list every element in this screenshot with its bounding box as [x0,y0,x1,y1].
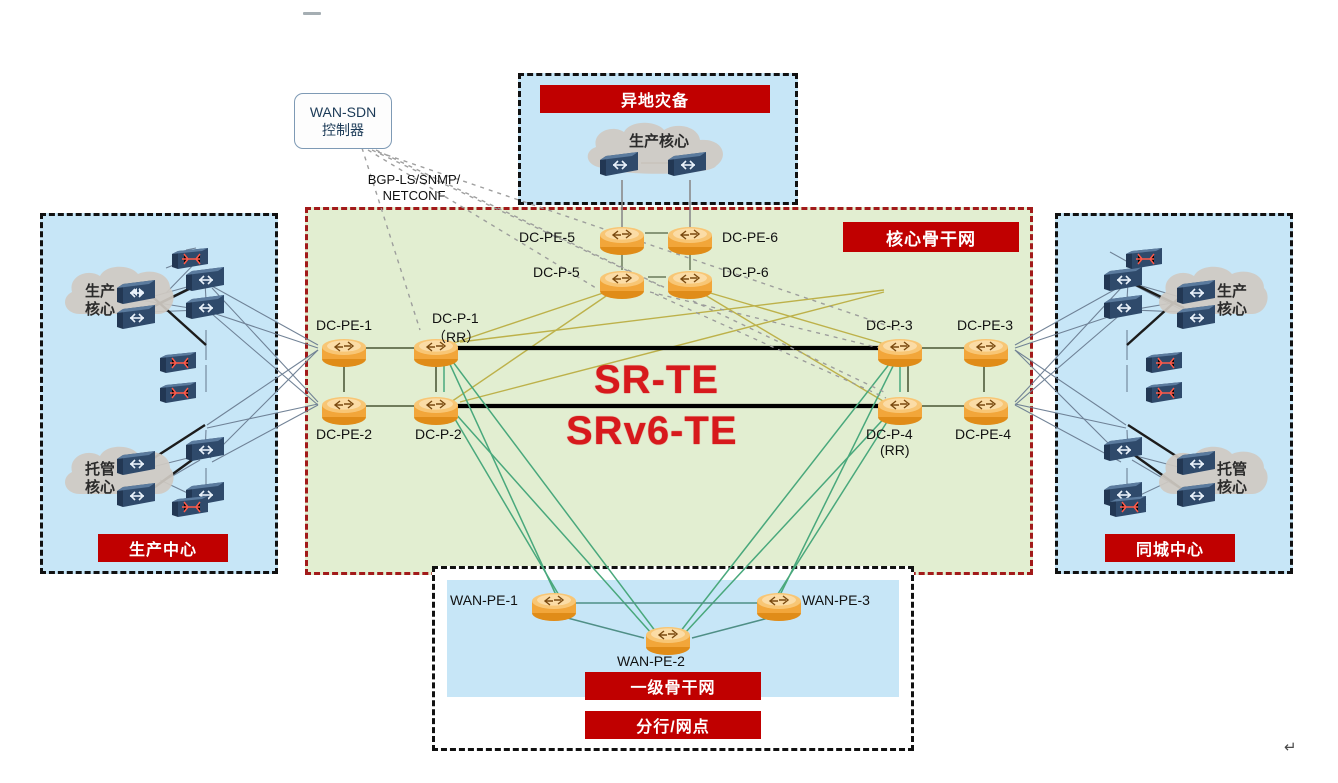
router-dc-p-2[interactable] [413,392,459,426]
label-dc-p-4-rr: (RR) [880,442,910,458]
label-dc-pe-4: DC-PE-4 [955,426,1011,442]
protocol-line1: BGP-LS/SNMP/ [344,172,484,188]
sdn-controller-name-line1: WAN-SDN [310,103,376,121]
switch-icon[interactable] [117,303,159,331]
label-dc-p-2: DC-P-2 [415,426,462,442]
router-dc-p-5[interactable] [599,266,645,300]
label-dc-pe-5: DC-PE-5 [519,229,575,245]
router-wan-pe-1[interactable] [531,588,577,622]
label-dc-pe-6: DC-PE-6 [722,229,778,245]
router-wan-pe-2[interactable] [645,622,691,656]
firewall-icon[interactable] [1110,494,1150,520]
label-dc-p-1: DC-P-1 [432,310,479,326]
router-dc-pe-5[interactable] [599,222,645,256]
label-sr-te: SR-TE [594,358,719,403]
router-dc-p-4[interactable] [877,392,923,426]
label-dc-p-3: DC-P-3 [866,317,913,333]
switch-icon[interactable] [1177,303,1219,331]
firewall-icon[interactable] [1146,350,1186,376]
firewall-icon[interactable] [1126,246,1166,272]
banner-primary-backbone: 一级骨干网 [585,672,761,700]
wan-sdn-controller[interactable]: WAN-SDN 控制器 [294,93,392,149]
switch-icon[interactable] [1104,293,1146,321]
topology-diagram: WAN-SDN 控制器 BGP-LS/SNMP/ NETCONF 核心骨干网 异… [0,0,1338,783]
sdn-controller-name-line2: 控制器 [322,121,364,139]
switch-icon[interactable] [117,449,159,477]
label-dc-p-4: DC-P-4 [866,426,913,442]
switch-icon[interactable] [186,435,228,463]
router-dc-pe-2[interactable] [321,392,367,426]
label-dc-p-1-rr: （RR） [432,327,480,347]
label-dc-p-6: DC-P-6 [722,264,769,280]
switch-icon[interactable] [1177,481,1219,509]
label-wan-pe-2: WAN-PE-2 [617,653,685,669]
banner-production-center: 生产中心 [98,534,228,562]
cloud-dr-production-core-label: 生产核心 [592,133,726,150]
banner-core-backbone: 核心骨干网 [843,222,1019,252]
switch-icon[interactable] [186,293,228,321]
firewall-icon[interactable] [160,380,200,406]
label-srv6-te: SRv6-TE [566,409,738,454]
switch-icon[interactable] [117,278,159,306]
router-dc-pe-4[interactable] [963,392,1009,426]
label-wan-pe-3: WAN-PE-3 [802,592,870,608]
router-dc-p-6[interactable] [667,266,713,300]
banner-branch-outlet: 分行/网点 [585,711,761,739]
control-protocol-label: BGP-LS/SNMP/ NETCONF [344,172,484,205]
router-dc-pe-1[interactable] [321,334,367,368]
label-dc-pe-2: DC-PE-2 [316,426,372,442]
top-artifact-mark [303,12,321,15]
banner-samecity-center: 同城中心 [1105,534,1235,562]
label-dc-p-5: DC-P-5 [533,264,580,280]
banner-remote-dr: 异地灾备 [540,85,770,113]
switch-icon[interactable] [1177,449,1219,477]
switch-icon[interactable] [1177,278,1219,306]
pilcrow-mark: ↵ [1284,738,1297,756]
firewall-icon[interactable] [172,494,212,520]
switch-icon[interactable] [668,150,710,178]
firewall-icon[interactable] [160,350,200,376]
router-dc-pe-3[interactable] [963,334,1009,368]
switch-icon[interactable] [1104,435,1146,463]
label-dc-pe-3: DC-PE-3 [957,317,1013,333]
switch-icon[interactable] [117,481,159,509]
label-wan-pe-1: WAN-PE-1 [450,592,518,608]
label-dc-pe-1: DC-PE-1 [316,317,372,333]
firewall-icon[interactable] [1146,380,1186,406]
switch-icon[interactable] [600,150,642,178]
router-dc-p-3[interactable] [877,334,923,368]
router-wan-pe-3[interactable] [756,588,802,622]
firewall-icon[interactable] [172,246,212,272]
router-dc-pe-6[interactable] [667,222,713,256]
protocol-line2: NETCONF [344,188,484,204]
